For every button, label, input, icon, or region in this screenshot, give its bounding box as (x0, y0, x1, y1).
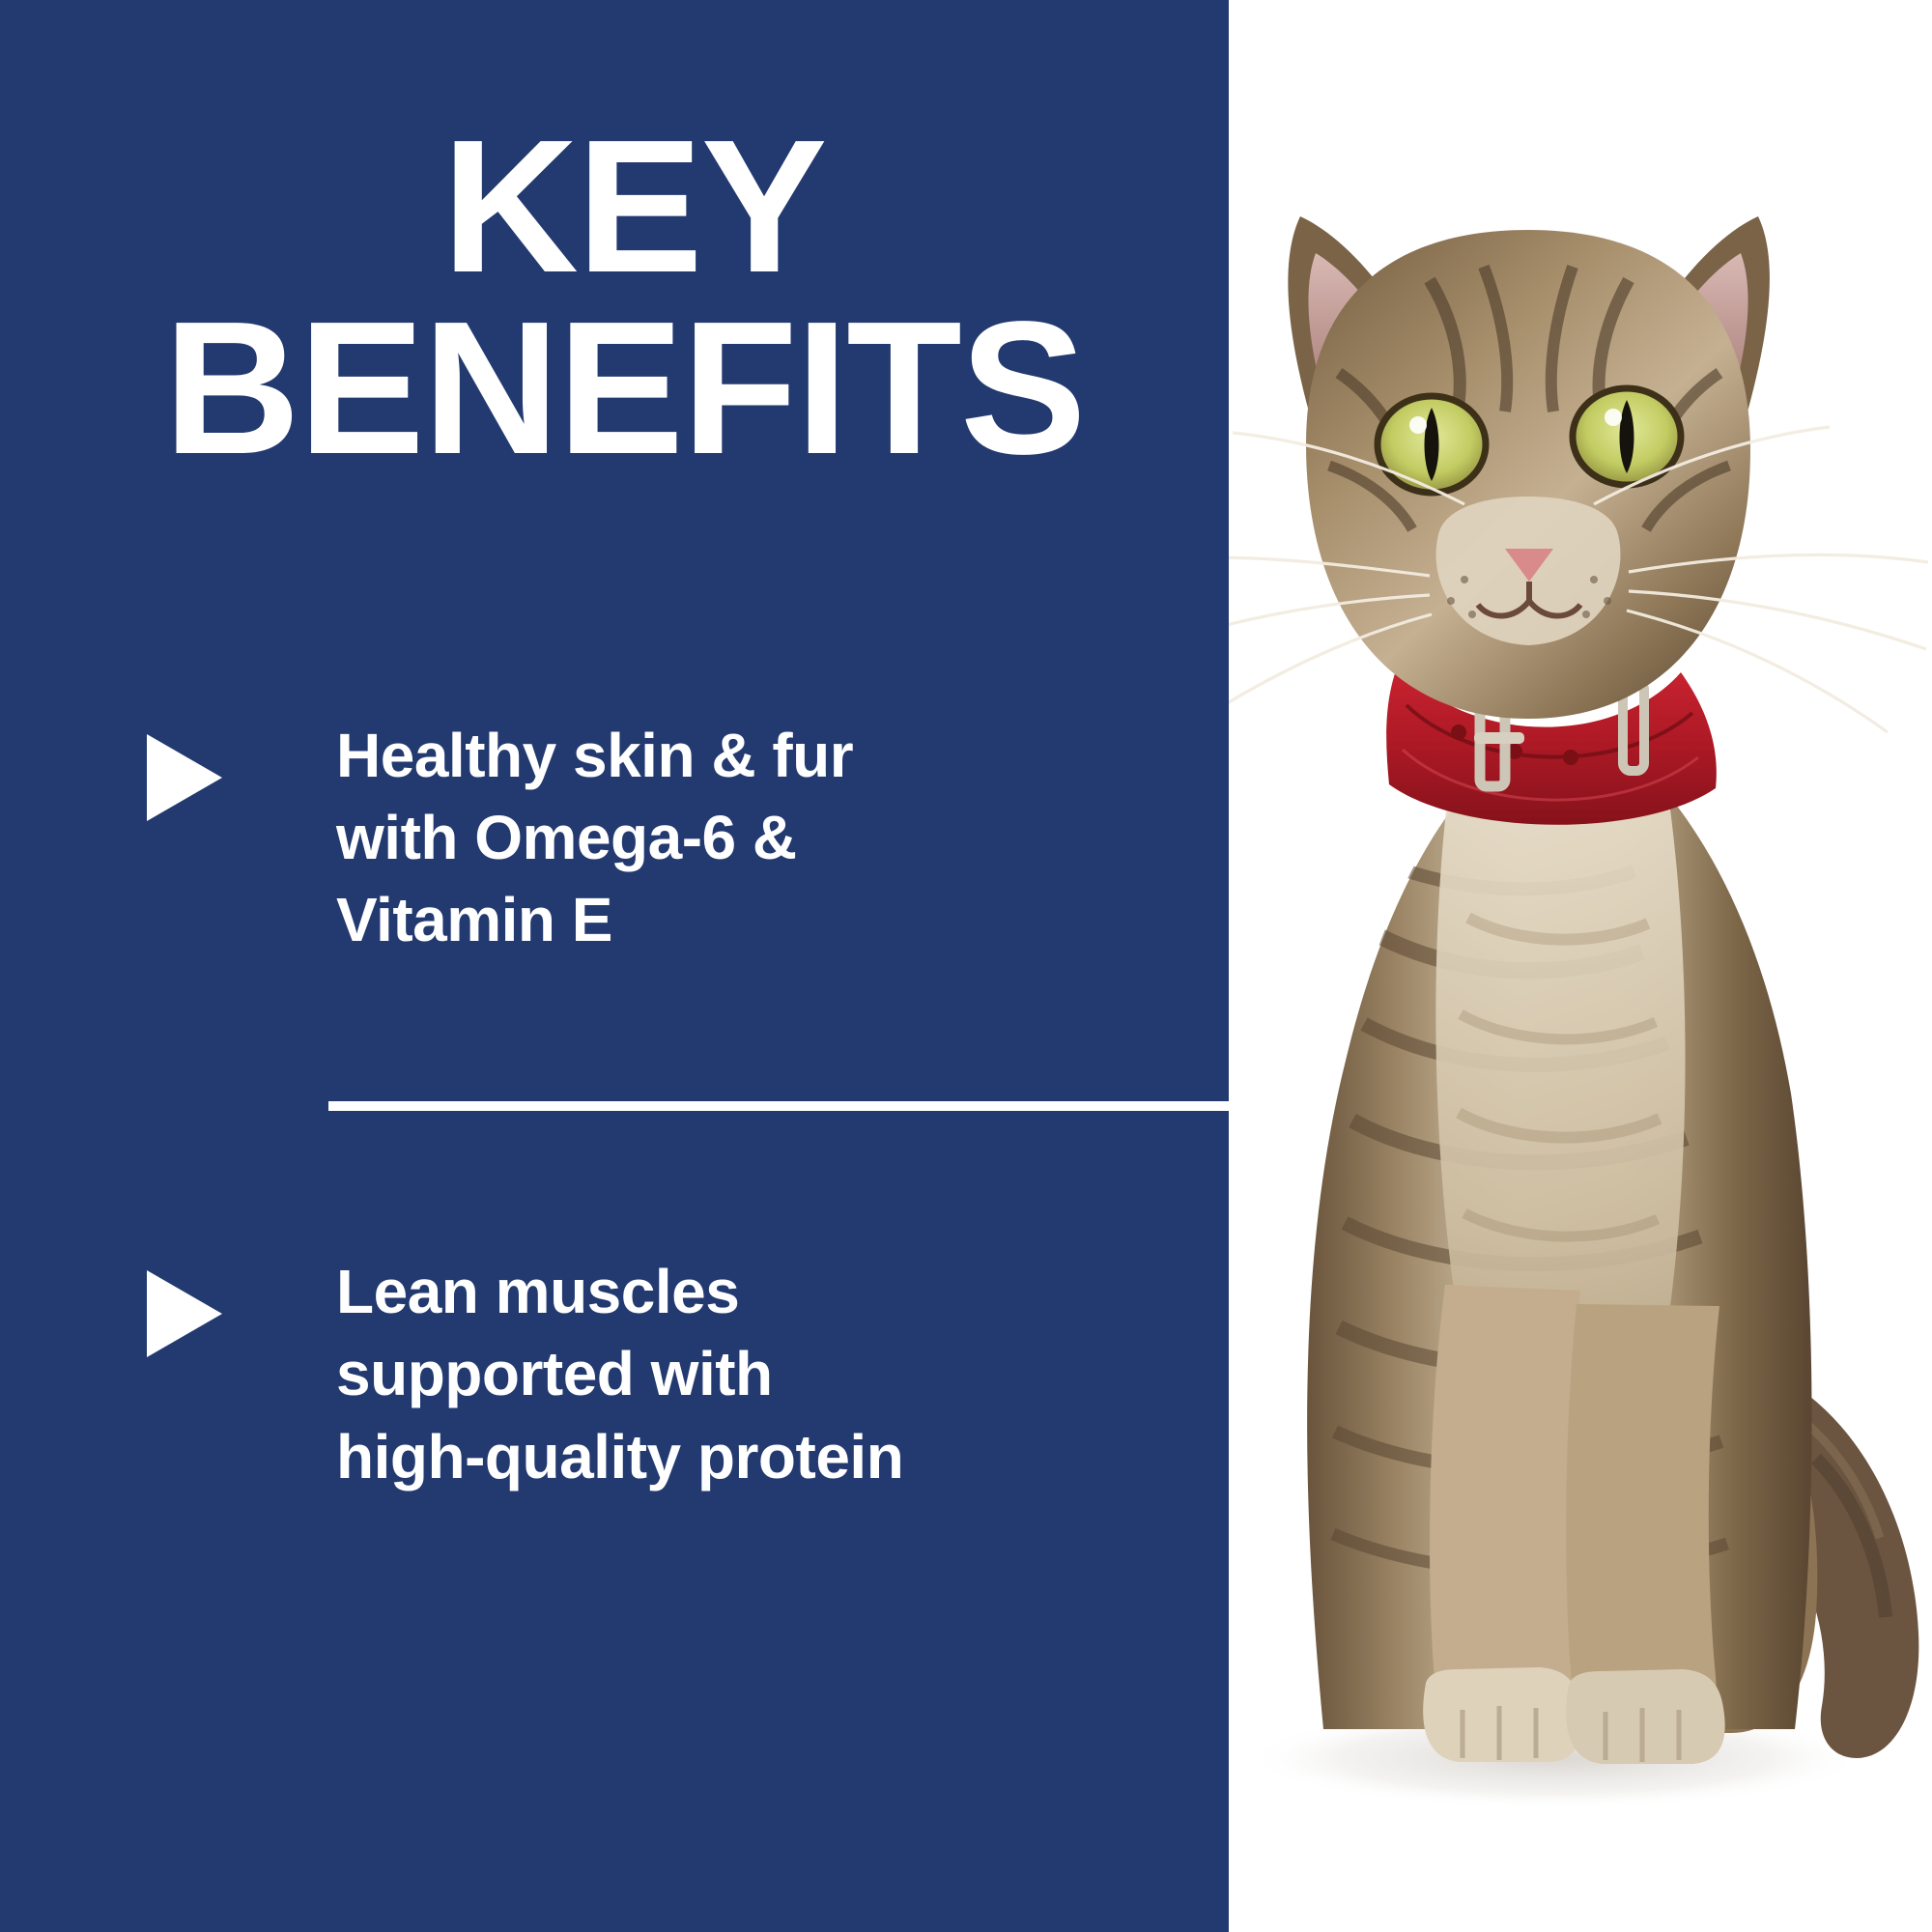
title-line-1: KEY (0, 116, 1229, 298)
title-line-2: BENEFITS (0, 298, 1229, 479)
benefits-list: Healthy skin & fur with Omega-6 & Vitami… (0, 715, 1229, 1498)
benefit-item-2: Lean muscles supported with high-quality… (0, 1251, 1229, 1497)
promo-card: KEY BENEFITS Healthy skin & fur with Ome… (0, 0, 1932, 1932)
benefit-1-line-3: Vitamin E (336, 879, 853, 961)
benefit-2-line-1: Lean muscles (336, 1251, 903, 1333)
cat-photo (1140, 126, 1932, 1932)
cat-head (1140, 216, 1928, 734)
benefit-1-text: Healthy skin & fur with Omega-6 & Vitami… (336, 715, 853, 961)
triangle-right-icon (147, 734, 222, 821)
benefits-divider (328, 1101, 1229, 1111)
benefit-2-line-3: high-quality protein (336, 1416, 903, 1498)
benefits-divider-wrap (0, 1101, 1229, 1111)
benefit-1-line-2: with Omega-6 & (336, 797, 853, 879)
benefit-2-text: Lean muscles supported with high-quality… (336, 1251, 903, 1497)
benefit-1-line-1: Healthy skin & fur (336, 715, 853, 797)
cat-paw-left (1423, 1667, 1582, 1762)
page-title: KEY BENEFITS (0, 116, 1229, 479)
benefit-2-line-2: supported with (336, 1333, 903, 1415)
cat-eye-left (1378, 396, 1486, 493)
cat-front-legs (1423, 1285, 1725, 1764)
triangle-right-icon (147, 1270, 222, 1357)
cat-paw-right (1566, 1669, 1725, 1764)
benefit-item-1: Healthy skin & fur with Omega-6 & Vitami… (0, 715, 1229, 961)
